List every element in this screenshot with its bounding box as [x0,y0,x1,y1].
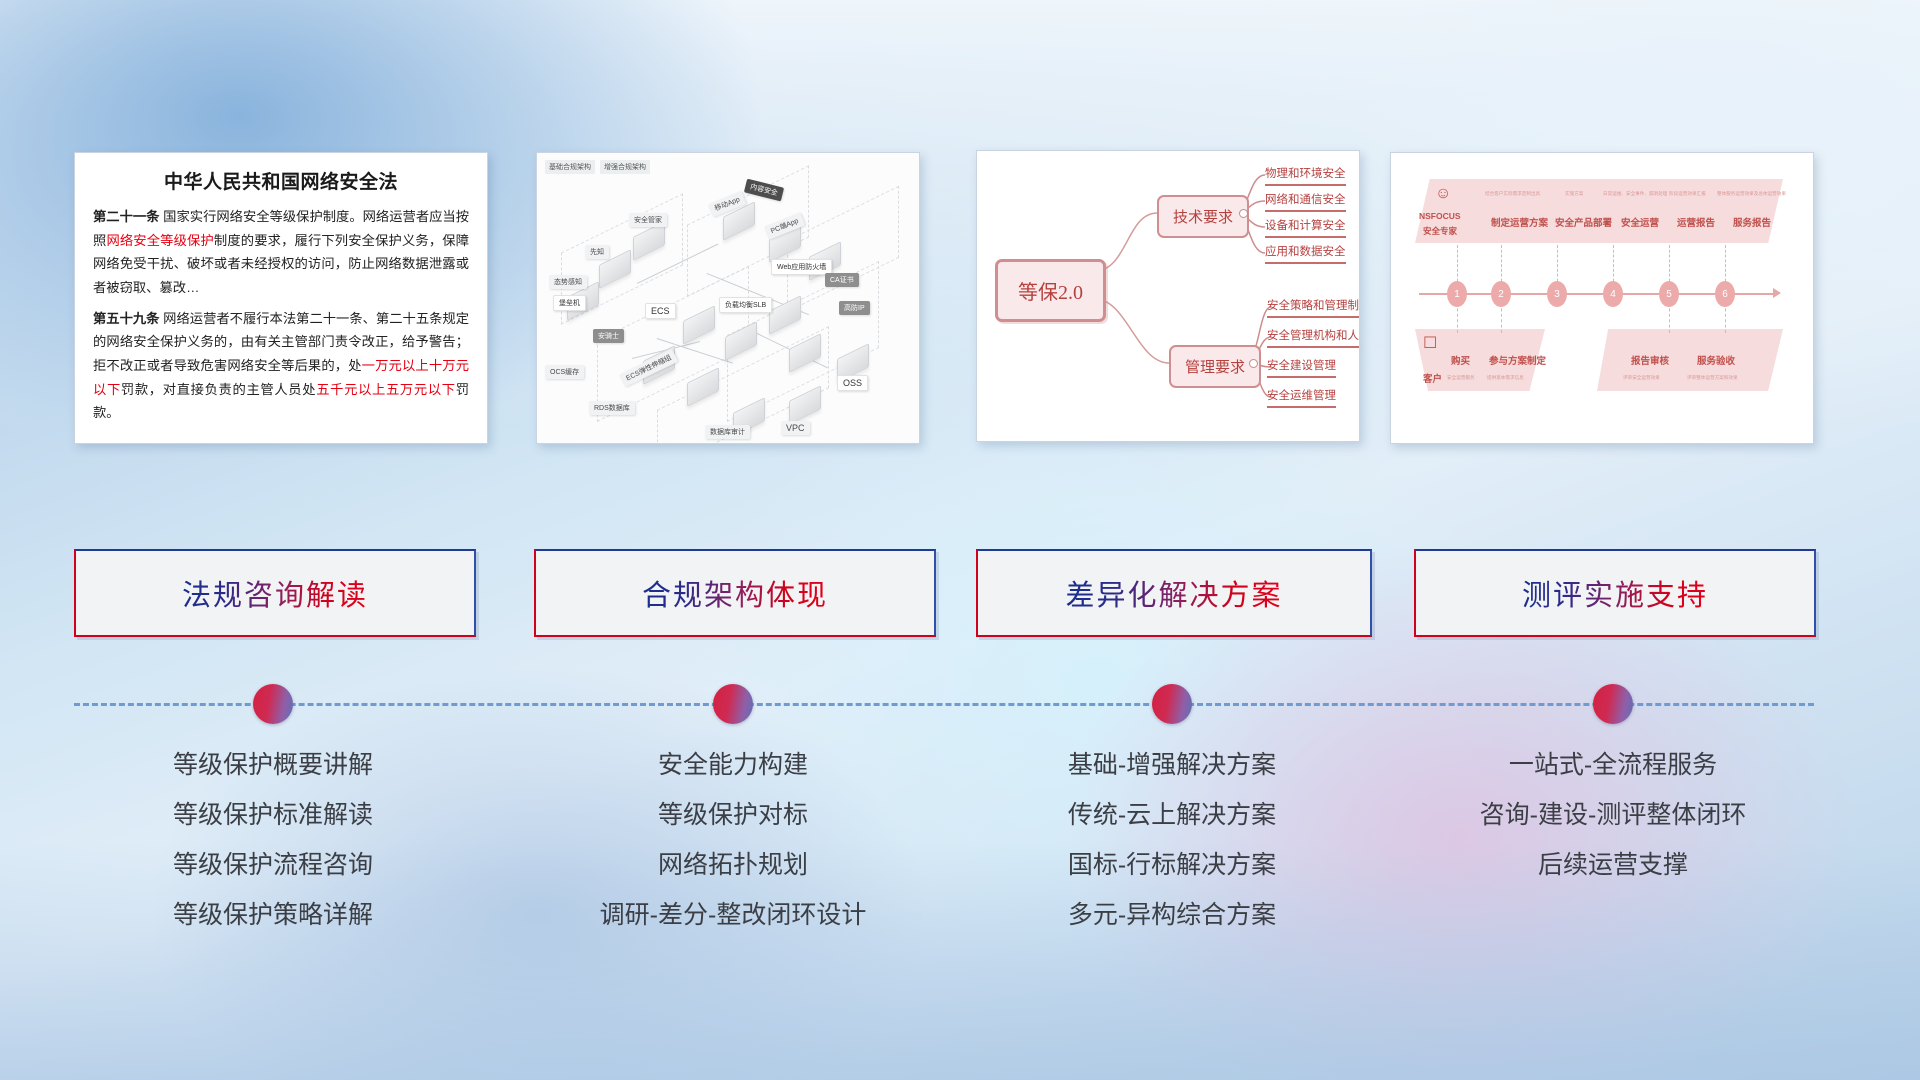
law-title: 中华人民共和国网络安全法 [93,167,469,194]
bullet-item: 等级保护策略详解 [74,890,472,940]
card-service-roadmap[interactable]: ☺ NSFOCUS 安全专家 结合客户实际需求定制出具 制定运营方案 实施方案 … [1390,152,1814,444]
headline-label: 合规架构体现 [642,572,828,614]
mindmap-leaf: 安全建设管理 [1267,357,1336,378]
law-article-21-highlight: 网络安全等级保护 [106,233,213,248]
mindmap-branch-technical: 技术要求 [1157,195,1249,238]
bullet-item: 调研-差分-整改闭环设计 [534,890,932,940]
architecture-label: 安全管家 [629,213,667,227]
bullet-item: 基础-增强解决方案 [976,740,1368,790]
roadmap-top-main: 安全产品部署 [1555,215,1612,229]
mindmap-leaf: 网络和通信安全 [1265,191,1346,212]
bullet-column-regulation: 等级保护概要讲解 等级保护标准解读 等级保护流程咨询 等级保护策略详解 [74,740,472,940]
bullet-item: 安全能力构建 [534,740,932,790]
roadmap-top-sub: 实施方案 [1565,191,1583,197]
bullet-item: 咨询-建设-测评整体闭环 [1414,790,1812,840]
roadmap-step-number: 4 [1603,281,1623,307]
law-article-59: 第五十九条 网络运营者不履行本法第二十一条、第二十五条规定的网络安全保护义务的，… [93,307,469,425]
mindmap-collapse-dot[interactable] [1239,209,1248,218]
mindmap: 等保2.0 技术要求 管理要求 物理和环境安全 网络和通信安全 设备和计算安全 … [977,151,1359,441]
roadmap-step-number: 3 [1547,281,1567,307]
timeline-dot-1[interactable] [253,684,293,724]
headline-box-regulation-consulting[interactable]: 法规咨询解读 [74,549,476,637]
bullet-item: 国标-行标解决方案 [976,840,1368,890]
headline-box-compliance-architecture[interactable]: 合规架构体现 [534,549,936,637]
roadmap-bottom-main: 报告审核 [1631,353,1669,367]
mindmap-collapse-dot[interactable] [1249,359,1258,368]
mindmap-leaf: 安全管理机构和人员 [1267,327,1360,348]
bullet-column-row: 等级保护概要讲解 等级保护标准解读 等级保护流程咨询 等级保护策略详解 安全能力… [0,740,1920,970]
mindmap-branch-management: 管理要求 [1169,345,1261,388]
bullet-item: 等级保护对标 [534,790,932,840]
roadmap-step-number: 6 [1715,281,1735,307]
architecture-label: VPC [781,421,810,435]
roadmap-top-main: 服务报告 [1733,215,1771,229]
timeline-dot-4[interactable] [1593,684,1633,724]
bullet-item: 后续运营支撑 [1414,840,1812,890]
roadmap-customer-band-right [1597,329,1783,391]
architecture-label: 负载均衡SLB [719,297,772,313]
customer-person-icon: ☐ [1423,333,1437,353]
mindmap-leaf: 设备和计算安全 [1265,217,1346,238]
headline-label: 差异化解决方案 [1065,572,1282,614]
law-article-59-fine2: 五千元以上五万元以下 [316,382,456,397]
timeline [0,684,1920,724]
architecture-label: 安骑士 [593,329,624,343]
bullet-item: 等级保护概要讲解 [74,740,472,790]
architecture-label: 态势感知 [549,275,587,289]
architecture-label: Web应用防火墙 [771,259,832,275]
bullet-item: 一站式-全流程服务 [1414,740,1812,790]
bullet-item: 传统-云上解决方案 [976,790,1368,840]
roadmap-top-sub: 日常运维、安全事件、漏洞处理 [1603,191,1667,197]
roadmap-dash-connector [1725,303,1727,333]
roadmap-top-main: 运营报告 [1677,215,1715,229]
roadmap-vendor-label: NSFOCUS [1419,211,1461,221]
roadmap-diagram: ☺ NSFOCUS 安全专家 结合客户实际需求定制出具 制定运营方案 实施方案 … [1391,153,1813,443]
architecture-label: RDS数据库 [589,401,635,415]
headline-label: 测评实施支持 [1522,572,1708,614]
roadmap-top-sub: 整体服务运营效果及总体运营效果 [1717,191,1786,197]
roadmap-vendor-sub: 安全专家 [1423,225,1457,237]
law-document: 中华人民共和国网络安全法 第二十一条 国家实行网络安全等级保护制度。网络运营者应… [75,153,487,443]
headline-box-assessment-support[interactable]: 测评实施支持 [1414,549,1816,637]
roadmap-step-number: 5 [1659,281,1679,307]
mindmap-root: 等保2.0 [995,259,1106,322]
roadmap-dash-connector [1669,303,1671,333]
mindmap-leaf: 安全策略和管理制度 [1267,297,1360,318]
roadmap-top-sub: 结合客户实际需求定制出具 [1485,191,1540,197]
roadmap-bottom-sub: 安全运营服务 [1447,375,1475,381]
roadmap-vendor-band [1415,179,1783,243]
law-article-59-label: 第五十九条 [93,311,159,326]
bullet-item: 多元-异构综合方案 [976,890,1368,940]
bullet-column-solution: 基础-增强解决方案 传统-云上解决方案 国标-行标解决方案 多元-异构综合方案 [976,740,1368,940]
roadmap-step-number: 2 [1491,281,1511,307]
roadmap-axis-arrow [1773,288,1781,298]
card-mindmap-dengbao[interactable]: 等保2.0 技术要求 管理要求 物理和环境安全 网络和通信安全 设备和计算安全 … [976,150,1360,442]
law-article-21-label: 第二十一条 [93,209,159,224]
architecture-label: 堡垒机 [553,295,586,311]
illustration-card-row: 中华人民共和国网络安全法 第二十一条 国家实行网络安全等级保护制度。网络运营者应… [0,0,1920,470]
bullet-item: 网络拓扑规划 [534,840,932,890]
architecture-label: 先知 [585,245,609,259]
roadmap-bottom-main: 购买 [1451,353,1470,367]
roadmap-bottom-sub: 提供基本需求信息 [1487,375,1524,381]
headline-box-differentiated-solution[interactable]: 差异化解决方案 [976,549,1372,637]
card-compliance-architecture[interactable]: 基础合规架构 增强合规架构 [536,152,920,444]
headline-label: 法规咨询解读 [182,572,368,614]
roadmap-top-main: 安全运营 [1621,215,1659,229]
bullet-item: 等级保护标准解读 [74,790,472,840]
architecture-tab-enhanced[interactable]: 增强合规架构 [600,160,650,174]
mindmap-leaf: 安全运维管理 [1267,387,1336,408]
roadmap-top-sub: 阶段运营效果汇报 [1669,191,1706,197]
timeline-dot-3[interactable] [1152,684,1192,724]
roadmap-dash-connector [1457,303,1459,333]
roadmap-bottom-sub: 评审安全运营效果 [1623,375,1660,381]
roadmap-dash-connector [1501,303,1503,333]
architecture-label: CA证书 [825,273,859,287]
bullet-column-architecture: 安全能力构建 等级保护对标 网络拓扑规划 调研-差分-整改闭环设计 [534,740,932,940]
bullet-item: 等级保护流程咨询 [74,840,472,890]
roadmap-bottom-main: 参与方案制定 [1489,353,1546,367]
architecture-label: 高防IP [839,301,870,315]
roadmap-bottom-sub: 评审整体运营方案和效果 [1687,375,1738,381]
roadmap-top-main: 制定运营方案 [1491,215,1548,229]
timeline-dashed-line [74,703,1814,706]
architecture-label: OSS [837,375,868,391]
mindmap-leaf: 物理和环境安全 [1265,165,1346,186]
roadmap-customer-label: 客户 [1423,371,1442,385]
architecture-tab-basic[interactable]: 基础合规架构 [545,160,595,174]
architecture-label: ECS [645,303,676,319]
vendor-person-icon: ☺ [1435,185,1451,203]
roadmap-bottom-main: 服务验收 [1697,353,1735,367]
architecture-tabs: 基础合规架构 增强合规架构 [545,160,650,174]
law-article-21: 第二十一条 国家实行网络安全等级保护制度。网络运营者应当按照网络安全等级保护制度… [93,205,469,300]
architecture-label: 数据库审计 [705,425,750,439]
architecture-diagram: 基础合规架构 增强合规架构 [537,153,919,443]
law-article-59-t2: 罚款，对直接负责的主管人员处 [121,382,316,397]
roadmap-step-number: 1 [1447,281,1467,307]
bullet-column-assessment: 一站式-全流程服务 咨询-建设-测评整体闭环 后续运营支撑 [1414,740,1812,890]
timeline-dot-2[interactable] [713,684,753,724]
architecture-label: OCS缓存 [545,365,584,379]
mindmap-leaf: 应用和数据安全 [1265,243,1346,264]
card-cybersecurity-law[interactable]: 中华人民共和国网络安全法 第二十一条 国家实行网络安全等级保护制度。网络运营者应… [74,152,488,444]
